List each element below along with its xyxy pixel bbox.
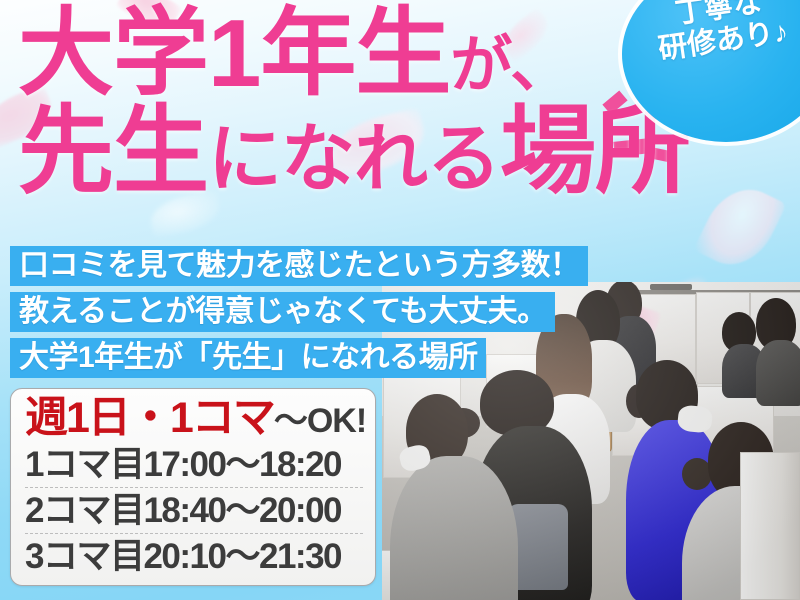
caption-bar-3: 大学1年生が「先生」になれる場所 xyxy=(10,338,486,378)
schedule-row: 3コマ目20:10〜21:30 xyxy=(25,534,363,579)
schedule-row: 1コマ目17:00〜18:20 xyxy=(25,442,363,488)
schedule-row: 2コマ目18:40〜20:00 xyxy=(25,488,363,534)
headline-line-1-main: 大学1年生 xyxy=(18,0,450,107)
schedule-heading-emphasis: 週1日・1コマ xyxy=(25,394,274,442)
caption-bar-group: 口コミを見て魅力を感じたという方多数！ 教えることが得意じゃなくても大丈夫。 大… xyxy=(10,246,588,384)
caption-bar-1: 口コミを見て魅力を感じたという方多数！ xyxy=(10,246,588,286)
schedule-panel: 週1日・1コマ〜OK! 1コマ目17:00〜18:20 2コマ目18:40〜20… xyxy=(10,388,376,586)
headline-line-1-tail: が、 xyxy=(450,31,571,100)
caption-bar-row: 口コミを見て魅力を感じたという方多数！ xyxy=(10,246,588,292)
schedule-heading-ok: 〜OK! xyxy=(274,402,366,440)
schedule-rows: 1コマ目17:00〜18:20 2コマ目18:40〜20:00 3コマ目20:1… xyxy=(25,442,363,579)
caption-bar-row: 教えることが得意じゃなくても大丈夫。 xyxy=(10,292,588,338)
headline-sensei: 先生 xyxy=(18,98,208,205)
training-badge: 丁寧な 研修あり♪ xyxy=(622,0,800,142)
caption-bar-row: 大学1年生が「先生」になれる場所 xyxy=(10,338,588,384)
recruitment-ad-banner: 大学1年生が、 先生になれる場所 丁寧な 研修あり♪ 口コミを見て魅力を感じたと… xyxy=(0,0,800,600)
headline-ninareru: になれる xyxy=(208,117,500,200)
caption-bar-2: 教えることが得意じゃなくても大丈夫。 xyxy=(10,292,555,332)
schedule-heading: 週1日・1コマ〜OK! xyxy=(25,396,363,441)
